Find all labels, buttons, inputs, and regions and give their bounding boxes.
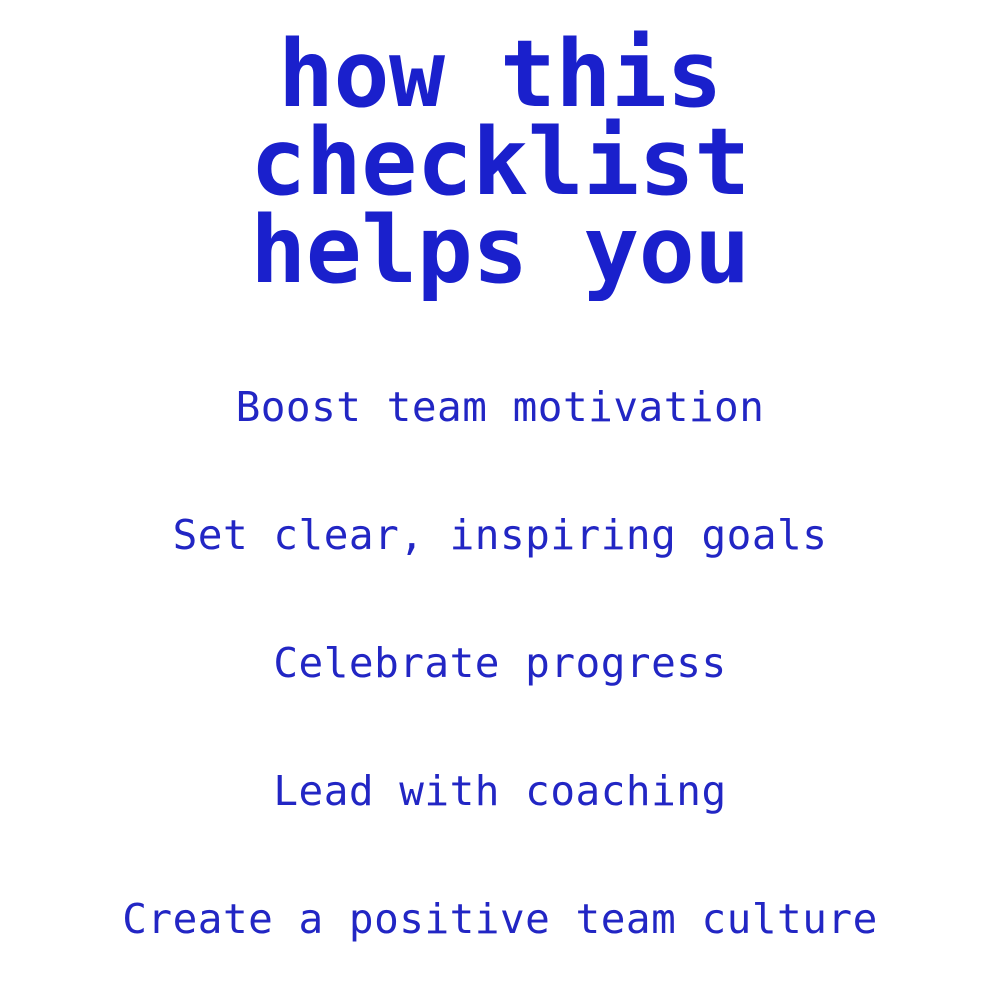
checklist-benefits-slide: how this checklist helps you Boost team … [0,0,1000,1000]
headline-line-3: helps you [0,206,1000,294]
page-title: how this checklist helps you [0,0,1000,294]
list-item: Lead with coaching [0,727,1000,855]
headline-line-2: checklist [0,118,1000,206]
benefit-list: Boost team motivation Set clear, inspiri… [0,294,1000,983]
headline-line-1: how this [0,30,1000,118]
list-item: Set clear, inspiring goals [0,471,1000,599]
list-item: Create a positive team culture [0,855,1000,983]
list-item: Celebrate progress [0,599,1000,727]
list-item: Boost team motivation [0,343,1000,471]
